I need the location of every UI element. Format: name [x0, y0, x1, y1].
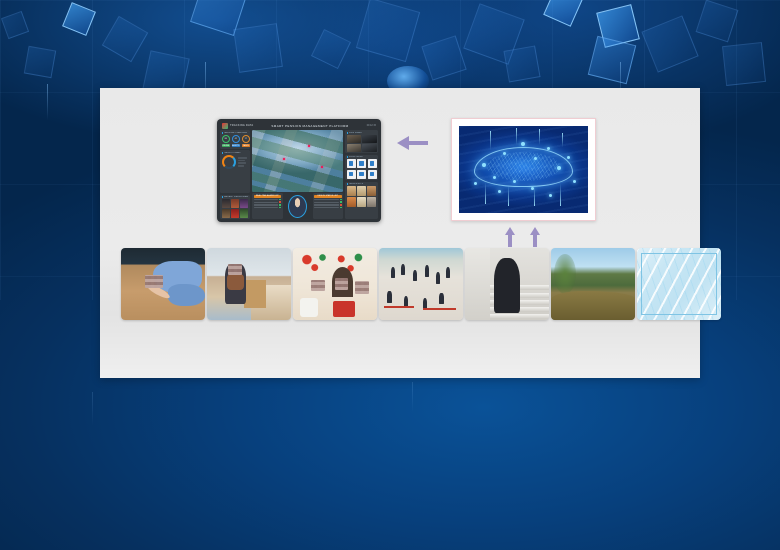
snapshot-thumb[interactable]: [347, 186, 356, 196]
health-index-row: [222, 155, 249, 169]
node-dot: [549, 194, 552, 197]
node-dot: [567, 156, 570, 159]
node-dot: [521, 142, 525, 146]
snapshot-thumb[interactable]: [357, 197, 366, 207]
snapshot-thumb[interactable]: [367, 186, 376, 196]
stat-row: [238, 165, 244, 167]
decorative-line: [92, 392, 93, 426]
alarm-list-panel[interactable]: REAL-TIME ALARM LIST: [252, 193, 283, 219]
left-arrow: [395, 134, 429, 152]
tables-row: REAL-TIME ALARM LIST DEVICE STATUS LIST: [252, 193, 343, 219]
dashboard-center-column: REAL-TIME ALARM LIST DEVICE STATUS LIST: [252, 130, 343, 219]
snapshot-thumb[interactable]: [347, 197, 356, 207]
video-cell[interactable]: [362, 135, 377, 143]
gauge-tasks[interactable]: 17 TASKS: [242, 135, 251, 148]
function-icon[interactable]: [357, 159, 366, 168]
monitoring-dashboard-screenshot[interactable]: TRACKING DATA SMART PENSION MANAGEMENT P…: [217, 119, 381, 222]
gauge-label: TASKS: [242, 144, 251, 147]
function-icon[interactable]: [368, 159, 377, 168]
health-index-title: HEALTH INDEX: [222, 152, 249, 154]
gauge-online[interactable]: 86 ONLINE: [222, 135, 231, 148]
campus-3d-map[interactable]: [252, 130, 343, 192]
video-cell[interactable]: [347, 144, 362, 152]
device-status-panel[interactable]: DEVICE STATUS LIST: [313, 193, 344, 219]
decorative-square: [24, 46, 56, 78]
function-icon[interactable]: [368, 170, 377, 179]
light-ray: [508, 185, 509, 206]
ai-brain-card[interactable]: [451, 118, 596, 221]
slide-content-panel: TRACKING DATA SMART PENSION MANAGEMENT P…: [100, 88, 700, 378]
photo-item[interactable]: [121, 248, 205, 320]
device-status-header: DEVICE STATUS LIST: [314, 195, 342, 198]
video-cell[interactable]: [362, 144, 377, 152]
node-dot: [503, 152, 506, 155]
alarm-row: [254, 199, 282, 201]
dashboard-clock: 09:42:15: [367, 124, 376, 127]
light-ray: [534, 187, 535, 206]
personnel-thumb[interactable]: [240, 209, 248, 218]
light-ray: [516, 128, 517, 145]
personnel-card: RECENT PERSONNEL: [220, 195, 250, 219]
gauge-alerts[interactable]: 42 ALERTS: [232, 135, 241, 148]
gauge-label: ALERTS: [232, 144, 241, 147]
gauge-row: 86 ONLINE 42 ALERTS 17 TASKS: [222, 135, 249, 148]
node-dot: [482, 163, 486, 167]
stats-list: [238, 157, 249, 166]
health-donut-chart: [222, 155, 236, 169]
node-dot: [547, 147, 550, 150]
stat-row: [238, 160, 246, 162]
personnel-thumb[interactable]: [231, 209, 239, 218]
photo-item[interactable]: [379, 248, 463, 320]
personnel-thumb[interactable]: [222, 199, 230, 208]
gauges-card: SERVICE OVERVIEW 86 ONLINE 42 ALERTS 17: [220, 130, 250, 149]
up-arrow-left: [504, 227, 516, 247]
up-arrow-right: [529, 227, 541, 247]
dashboard-left-column: SERVICE OVERVIEW 86 ONLINE 42 ALERTS 17: [220, 130, 250, 219]
live-video-card: LIVE VIDEO: [345, 130, 378, 153]
gauge-value: 86: [222, 135, 231, 144]
snapshots-card: SNAPSHOTS: [345, 182, 378, 220]
node-dot: [573, 180, 576, 183]
photo-strip: [121, 248, 721, 320]
alarm-list-header: REAL-TIME ALARM LIST: [254, 195, 282, 198]
functions-icon-grid: [347, 159, 377, 179]
gauge-label: ONLINE: [222, 144, 231, 147]
light-ray: [485, 182, 486, 205]
snapshot-grid: [347, 186, 377, 207]
node-dot: [474, 182, 477, 185]
function-icon[interactable]: [347, 170, 356, 179]
photo-item[interactable]: [465, 248, 549, 320]
personnel-thumb[interactable]: [231, 199, 239, 208]
dashboard-title: SMART PENSION MANAGEMENT PLATFORM: [253, 124, 366, 128]
functions-title: FUNCTIONS: [347, 156, 377, 158]
personnel-thumb-grid: [222, 199, 249, 217]
gauge-value: 42: [232, 135, 241, 144]
light-ray: [560, 183, 561, 206]
snapshot-thumb[interactable]: [357, 186, 366, 196]
device-row: [314, 199, 342, 201]
alarm-row: [254, 204, 282, 206]
live-video-title: LIVE VIDEO: [347, 132, 377, 134]
dashboard-brand: TRACKING DATA: [230, 124, 253, 127]
decorative-square: [233, 23, 283, 73]
video-cell[interactable]: [347, 135, 362, 143]
map-marker-icon: [308, 145, 310, 147]
photo-item[interactable]: [207, 248, 291, 320]
resident-profile[interactable]: [285, 193, 311, 219]
stat-row: [238, 162, 247, 164]
health-index-card: HEALTH INDEX: [220, 150, 250, 193]
map-marker-icon: [283, 158, 285, 160]
device-row: [314, 204, 342, 206]
node-dot: [498, 190, 501, 193]
ai-brain-image: [459, 126, 588, 213]
personnel-thumb[interactable]: [240, 199, 248, 208]
decorative-line: [412, 382, 413, 412]
dashboard-logo-icon: [222, 123, 228, 129]
photo-item[interactable]: [637, 248, 721, 320]
alarm-row: [254, 201, 282, 203]
device-row: [314, 207, 342, 209]
node-dot: [557, 166, 561, 170]
alarm-row: [254, 207, 282, 209]
personnel-card-title: RECENT PERSONNEL: [222, 196, 249, 198]
photo-item[interactable]: [293, 248, 377, 320]
dashboard-header: TRACKING DATA SMART PENSION MANAGEMENT P…: [219, 121, 379, 130]
dashboard-body: SERVICE OVERVIEW 86 ONLINE 42 ALERTS 17: [219, 130, 379, 220]
decorative-square: [503, 45, 540, 82]
personnel-thumb[interactable]: [222, 209, 230, 218]
decorative-line: [47, 84, 48, 120]
stat-row: [238, 157, 248, 159]
function-icon[interactable]: [357, 170, 366, 179]
device-row: [314, 201, 342, 203]
snapshot-thumb[interactable]: [367, 197, 376, 207]
map-marker-icon: [321, 166, 323, 168]
light-ray: [490, 131, 491, 150]
decorative-square: [722, 42, 766, 86]
function-icon[interactable]: [347, 159, 356, 168]
resident-avatar: [288, 195, 307, 218]
gauges-card-title: SERVICE OVERVIEW: [222, 132, 249, 134]
gauge-value: 17: [242, 135, 251, 144]
functions-card: FUNCTIONS: [345, 155, 378, 181]
snapshots-title: SNAPSHOTS: [347, 183, 377, 185]
dashboard-right-column: LIVE VIDEO FUNCTIONS: [345, 130, 378, 219]
light-ray: [539, 129, 540, 145]
photo-item[interactable]: [551, 248, 635, 320]
video-grid: [347, 135, 377, 152]
light-ray: [562, 133, 563, 147]
